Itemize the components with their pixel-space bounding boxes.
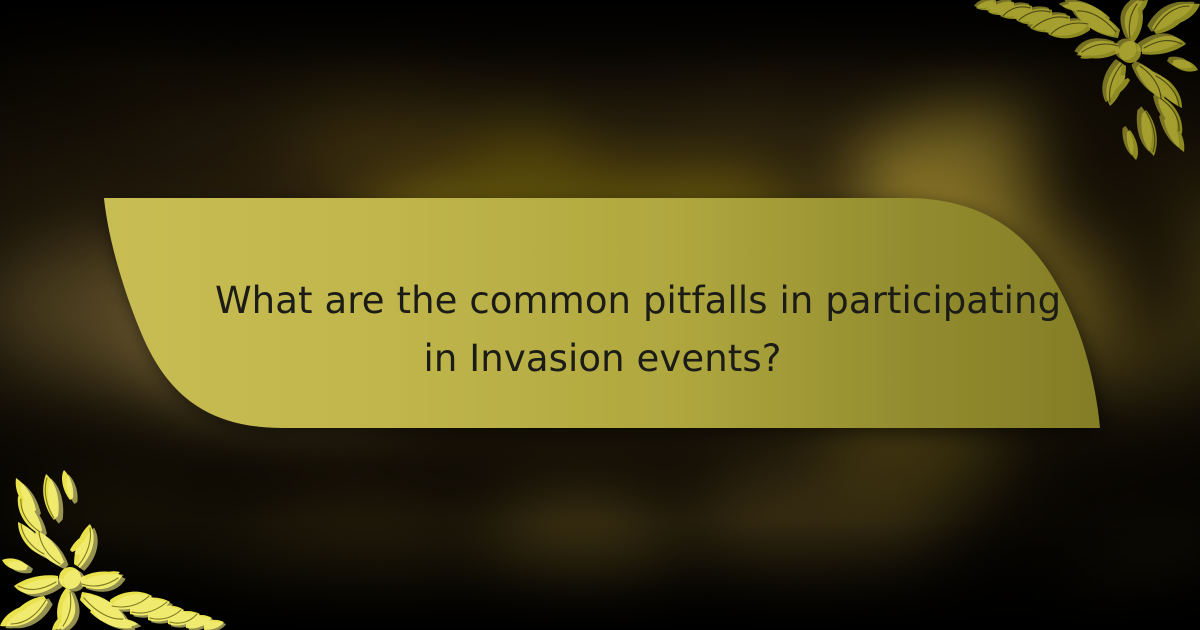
baroque-flourish-icon xyxy=(0,470,230,630)
question-text-line-1: What are the common pitfalls in particip… xyxy=(215,272,990,330)
baroque-flourish-icon xyxy=(970,0,1200,160)
poster-canvas: What are the common pitfalls in particip… xyxy=(0,0,1200,630)
corner-ornament-bottom-left xyxy=(0,470,230,630)
corner-ornament-top-right xyxy=(970,0,1200,160)
question-text: What are the common pitfalls in particip… xyxy=(215,272,990,388)
question-text-line-2: in Invasion events? xyxy=(215,330,990,388)
